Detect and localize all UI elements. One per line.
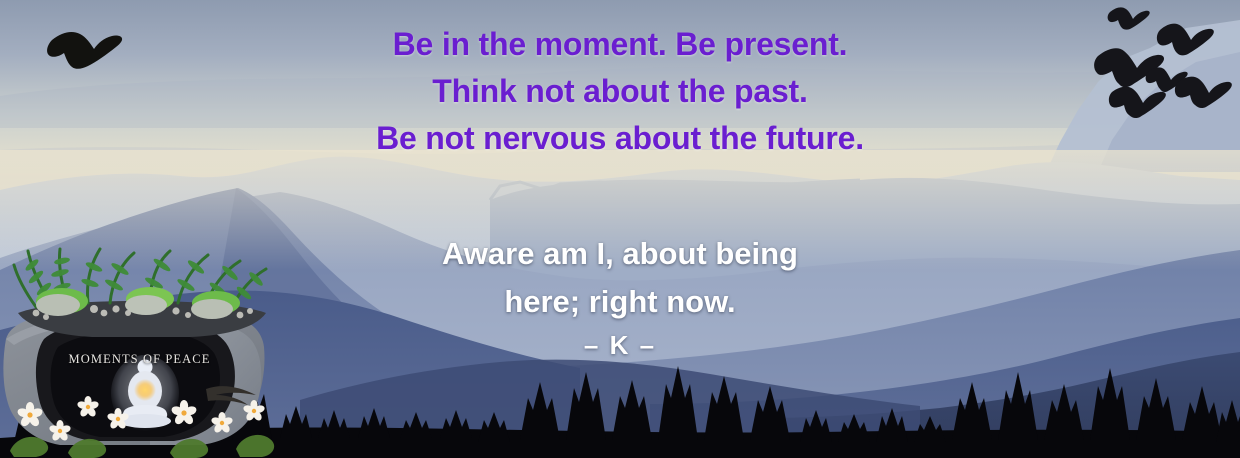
inspirational-quote-banner: Be in the moment. Be present. Think not …	[0, 0, 1240, 458]
quote-attribution: – K –	[0, 326, 1240, 364]
primary-quote: Be in the moment. Be present. Think not …	[0, 21, 1240, 162]
secondary-quote: Aware am I, about being here; right now.…	[0, 230, 1240, 364]
secondary-quote-line-1: Aware am I, about being	[0, 230, 1240, 278]
quote-line-2: Think not about the past.	[0, 68, 1240, 115]
quote-line-3: Be not nervous about the future.	[0, 115, 1240, 162]
quote-line-1: Be in the moment. Be present.	[0, 21, 1240, 68]
secondary-quote-line-2: here; right now.	[0, 278, 1240, 326]
